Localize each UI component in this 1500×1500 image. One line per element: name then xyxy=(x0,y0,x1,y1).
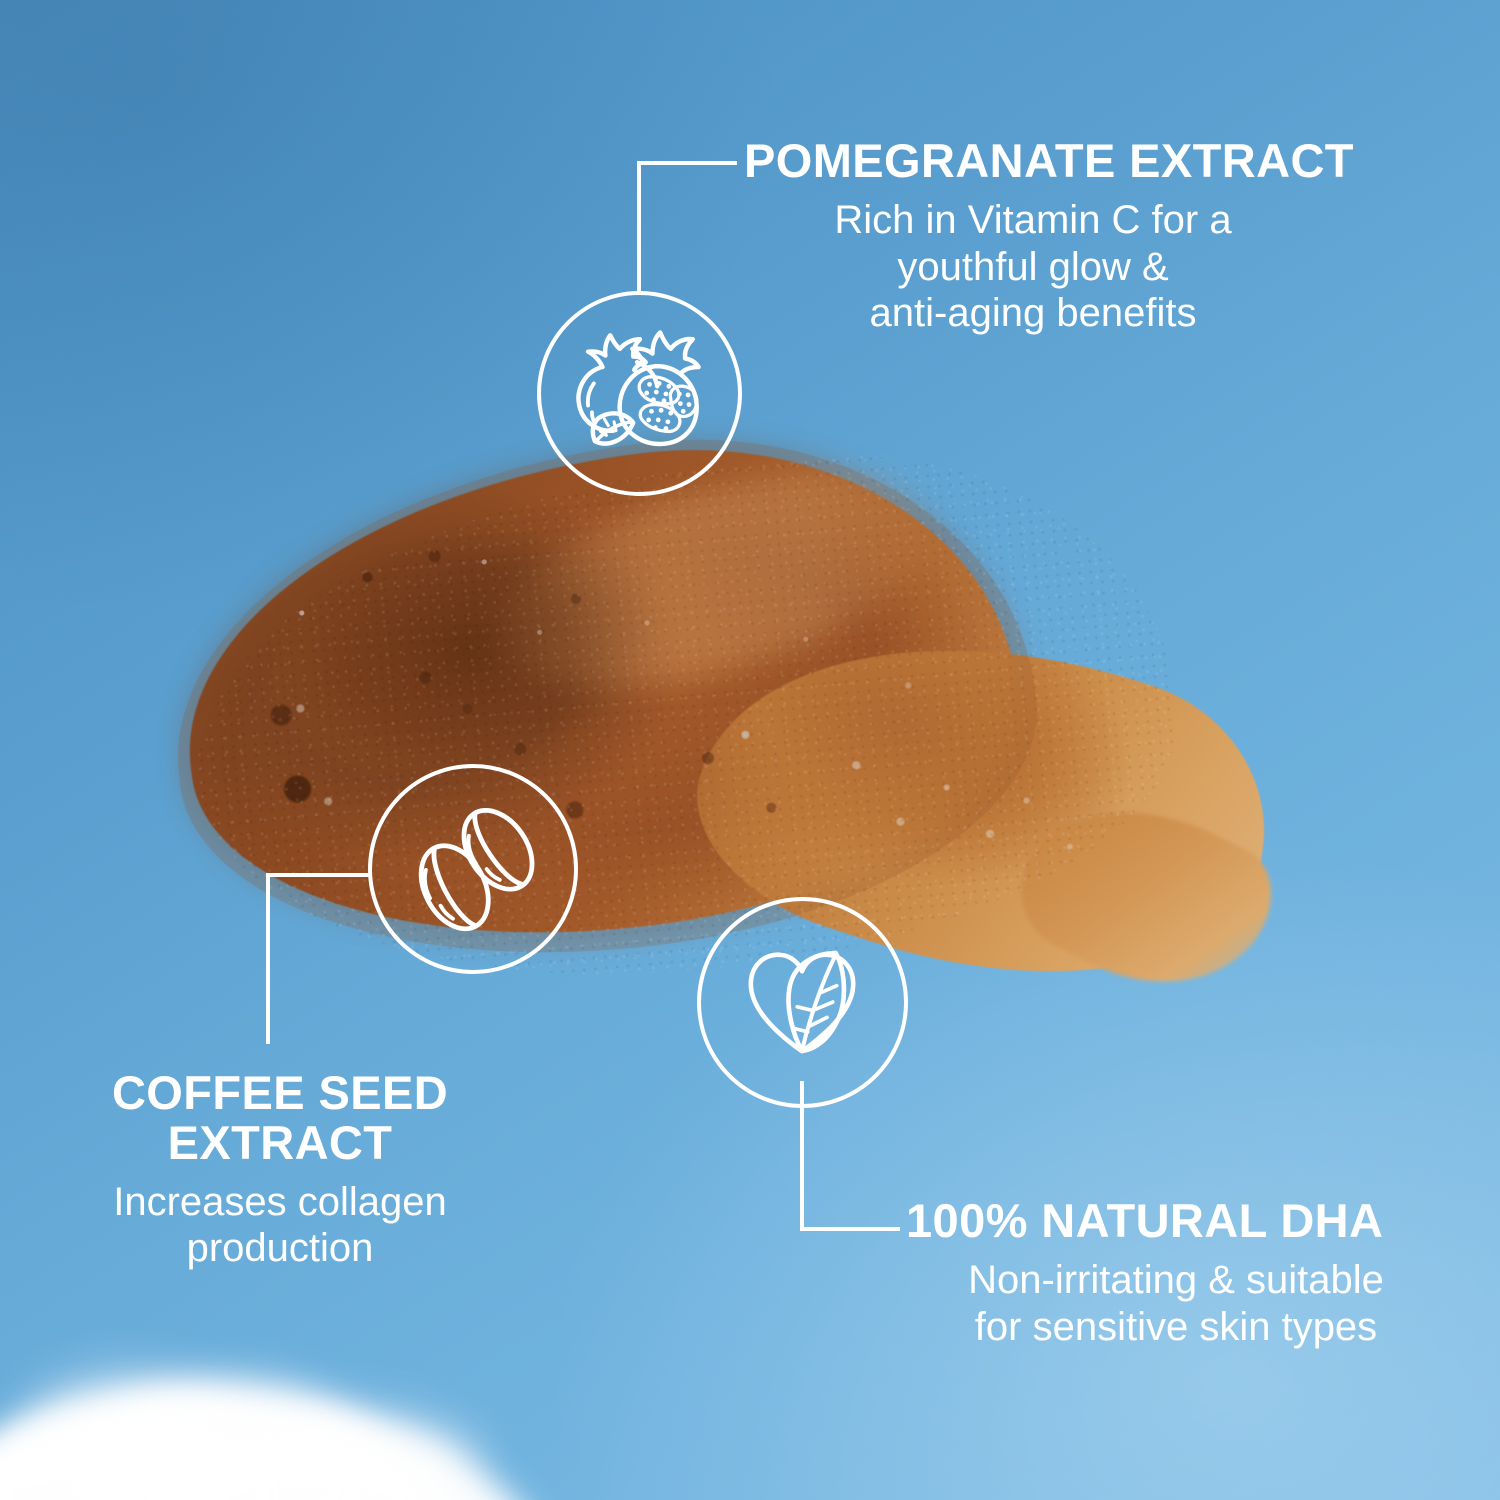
callout-description-dha: Non-irritating & suitable for sensitive … xyxy=(906,1257,1446,1351)
callout-text-pomegranate: POMEGRANATE EXTRACT Rich in Vitamin C fo… xyxy=(744,136,1434,337)
infographic-canvas: POMEGRANATE EXTRACT Rich in Vitamin C fo… xyxy=(0,0,1500,1500)
callout-description-coffee: Increases collagen production xyxy=(60,1179,500,1273)
callout-circle-pomegranate[interactable] xyxy=(537,291,742,496)
pomegranate-icon xyxy=(541,295,738,492)
coffee-bean-icon xyxy=(372,768,574,970)
callout-circle-dha[interactable] xyxy=(697,897,908,1108)
callout-title-pomegranate: POMEGRANATE EXTRACT xyxy=(744,136,1434,186)
callout-text-dha: 100% NATURAL DHA Non-irritating & suitab… xyxy=(906,1196,1446,1350)
callout-text-coffee: COFFEE SEED EXTRACT Increases collagen p… xyxy=(60,1068,500,1272)
callout-title-dha: 100% NATURAL DHA xyxy=(906,1196,1446,1246)
callout-title-coffee: COFFEE SEED EXTRACT xyxy=(60,1068,500,1168)
heart-leaf-icon xyxy=(701,901,904,1104)
callout-description-pomegranate: Rich in Vitamin C for a youthful glow & … xyxy=(744,197,1434,337)
callout-circle-coffee[interactable] xyxy=(368,764,578,974)
